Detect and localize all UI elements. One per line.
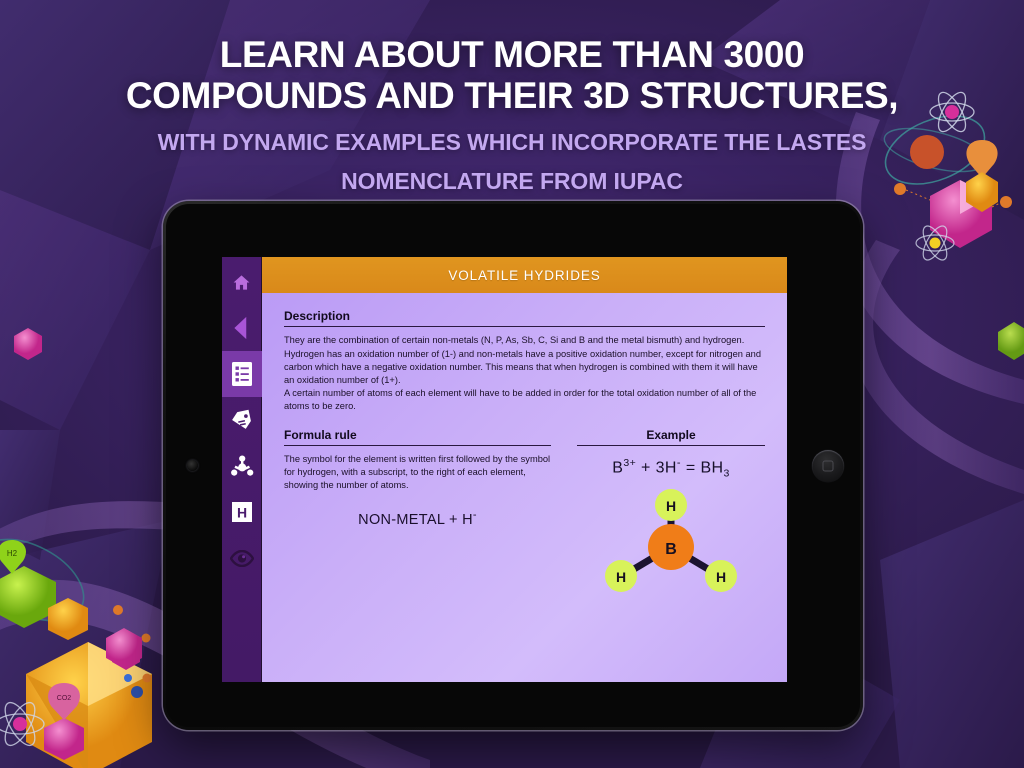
formula-general-expression: NON-METAL + H- <box>284 509 551 528</box>
formula-rule-section: Formula rule The symbol for the element … <box>284 428 551 596</box>
home-button-square-icon <box>823 461 834 472</box>
sidebar-item-tags[interactable] <box>222 397 262 443</box>
front-camera-icon <box>187 460 198 471</box>
svg-text:CO2: CO2 <box>57 695 72 702</box>
description-paragraph-3: A certain number of atoms of each elemen… <box>284 387 765 413</box>
atom-h-top-label: H <box>666 498 676 514</box>
equation-term1-symbol: B <box>612 459 623 476</box>
equation-result-symbol: BH <box>700 459 723 476</box>
two-column-section: Formula rule The symbol for the element … <box>284 428 765 596</box>
home-icon <box>232 273 251 292</box>
promo-headline-line1: LEARN ABOUT MORE THAN 3000 <box>0 34 1024 75</box>
bh3-molecule-svg: H B H H <box>596 483 746 595</box>
tag-icon <box>230 409 253 432</box>
svg-text:H: H <box>236 505 246 521</box>
example-heading: Example <box>577 428 765 445</box>
atom-b-center-label: B <box>665 541 677 558</box>
description-text: They are the combination of certain non-… <box>284 334 765 413</box>
back-chevron-icon <box>232 316 251 340</box>
sidebar-item-back[interactable] <box>222 305 262 351</box>
description-divider <box>284 326 765 327</box>
app-content: VOLATILE HYDRIDES Description They are t… <box>262 257 787 682</box>
element-h-icon: H <box>231 501 253 523</box>
page-title-bar: VOLATILE HYDRIDES <box>262 257 787 293</box>
page-title-text: VOLATILE HYDRIDES <box>448 268 600 283</box>
description-paragraph-1: They are the combination of certain non-… <box>284 334 765 347</box>
equation-term2-symbol: H <box>665 459 677 476</box>
promo-headline-line2: COMPOUNDS AND THEIR 3D STRUCTURES, <box>0 75 1024 116</box>
formula-charge: - <box>473 509 477 521</box>
home-button[interactable] <box>812 450 844 482</box>
formula-rule-divider <box>284 445 551 446</box>
sidebar-item-view[interactable] <box>222 535 262 581</box>
eye-icon <box>230 550 254 567</box>
equation-term2-coefficient: 3 <box>656 459 665 476</box>
app-screen: H VOLATILE HYDRIDES <box>222 257 787 682</box>
description-section: Description They are the combination of … <box>284 309 765 414</box>
molecule-icon <box>230 454 254 478</box>
equation-operator: + <box>641 459 651 476</box>
equation-term2-charge: - <box>677 457 681 469</box>
formula-rule-heading: Formula rule <box>284 428 551 445</box>
equation-result-subscript: 3 <box>723 467 729 479</box>
description-heading: Description <box>284 309 765 326</box>
equation-equals: = <box>686 459 696 476</box>
sidebar-item-element-h[interactable]: H <box>222 489 262 535</box>
example-divider <box>577 445 765 446</box>
sidebar-item-molecule[interactable] <box>222 443 262 489</box>
promo-subheadline-line2: NOMENCLATURE FROM IUPAC <box>0 167 1024 195</box>
sidebar-item-index[interactable] <box>222 351 262 397</box>
tablet-device: H VOLATILE HYDRIDES <box>163 201 863 730</box>
atom-h-right-label: H <box>716 569 726 585</box>
equation-term1-charge: 3+ <box>623 457 636 469</box>
example-section: Example B3+ + 3H- = BH3 <box>577 428 765 596</box>
promo-subheadline-line1: WITH DYNAMIC EXAMPLES WHICH INCORPORATE … <box>0 128 1024 156</box>
atom-h-left-label: H <box>616 569 626 585</box>
promo-text-block: LEARN ABOUT MORE THAN 3000 COMPOUNDS AND… <box>0 34 1024 195</box>
formula-prefix: NON-METAL + H <box>358 512 473 528</box>
sidebar-item-home[interactable] <box>222 259 262 305</box>
svg-text:H2: H2 <box>7 549 18 558</box>
description-paragraph-2: Hydrogen has an oxidation number of (1-)… <box>284 348 765 388</box>
app-sidebar: H <box>222 257 262 682</box>
example-equation: B3+ + 3H- = BH3 <box>577 457 765 480</box>
molecule-diagram[interactable]: H B H H <box>577 483 765 595</box>
formula-rule-text: The symbol for the element is written fi… <box>284 453 551 493</box>
list-icon <box>231 361 253 387</box>
content-body: Description They are the combination of … <box>262 293 787 682</box>
